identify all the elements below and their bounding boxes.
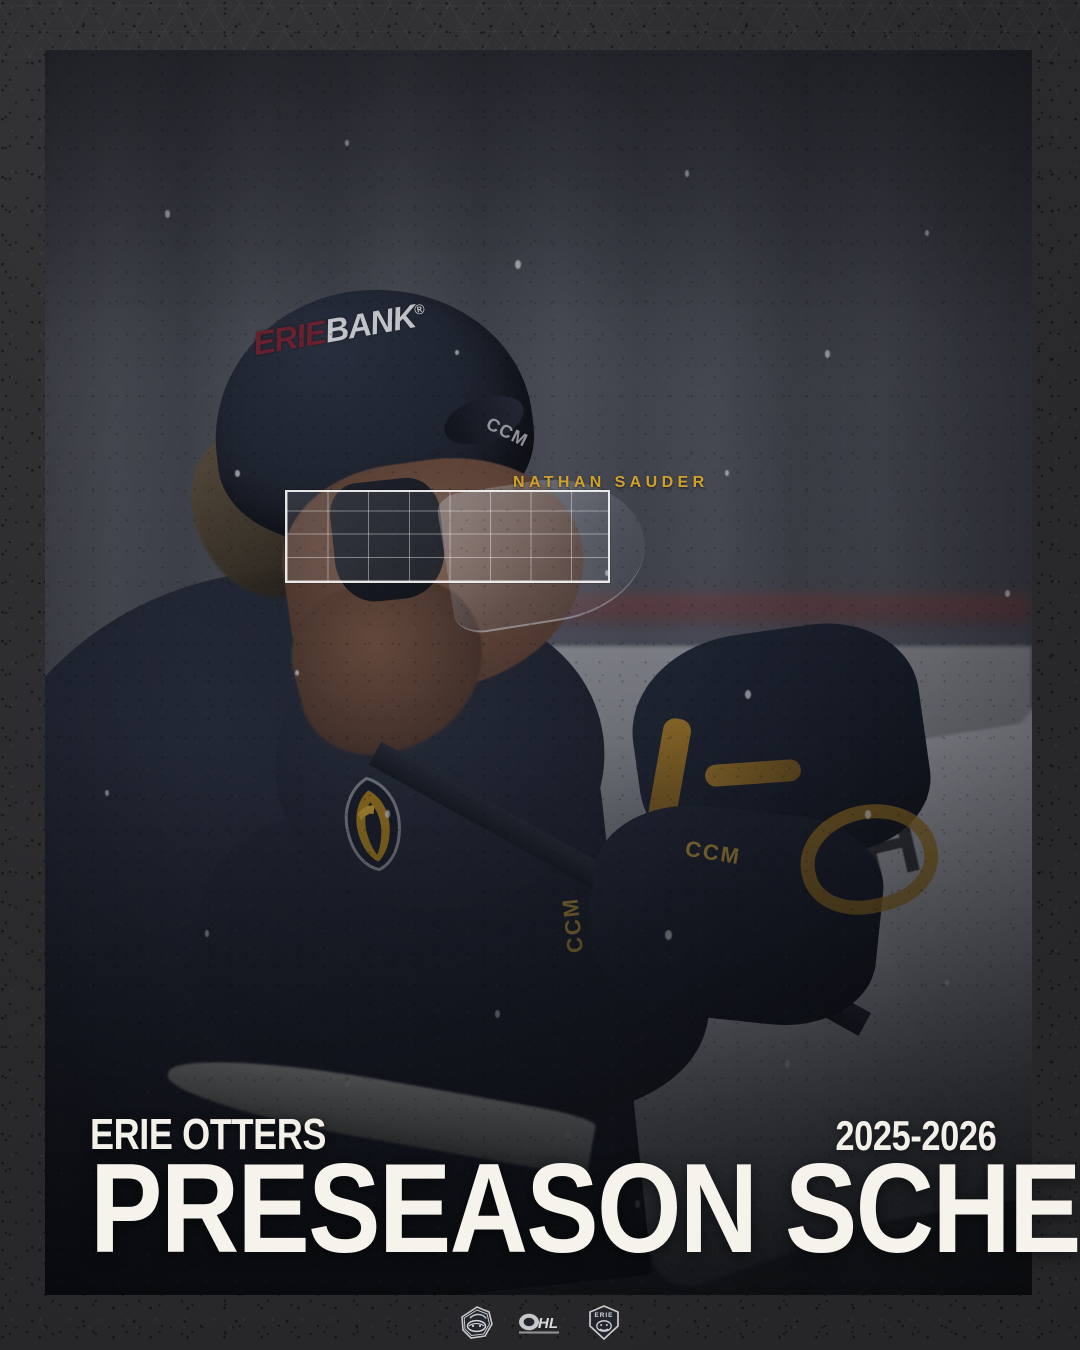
footer-logo-strip: HL ERIE [0,1295,1080,1350]
erie-otters-roundel-icon [460,1306,494,1340]
svg-text:ERIE: ERIE [595,1312,614,1319]
ohl-logo-icon: HL [518,1311,564,1335]
preseason-schedule-poster: H CCM ERIEBANK® CCM [0,0,1080,1350]
erie-otters-crest-icon: ERIE [588,1305,620,1341]
highlight-box-grid [287,492,608,581]
svg-text:HL: HL [538,1315,558,1332]
face-highlight-box [285,490,610,583]
registered-mark: ® [413,301,425,318]
player-name-label: NATHAN SAUDER [513,474,709,492]
photo-top-shade [45,50,1032,380]
hero-photo: H CCM ERIEBANK® CCM [45,50,1032,1295]
otters-chest-crest-icon [331,771,416,876]
